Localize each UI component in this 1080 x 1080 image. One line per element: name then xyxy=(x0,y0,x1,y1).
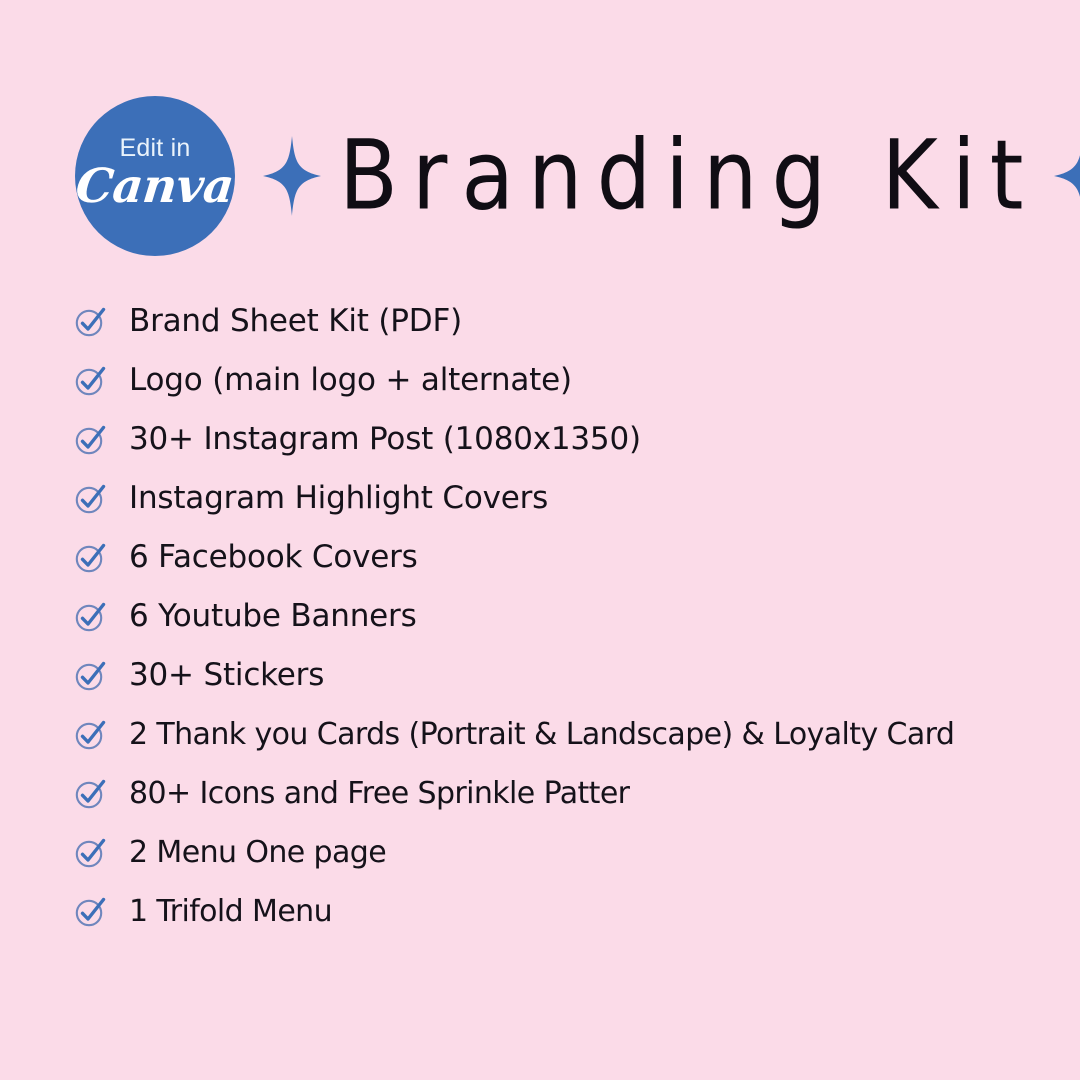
check-circle-icon xyxy=(74,306,106,338)
check-circle-icon xyxy=(74,837,106,869)
check-circle-icon xyxy=(74,424,106,456)
check-circle-icon xyxy=(74,896,106,928)
check-circle-icon xyxy=(74,660,106,692)
list-item-label: Logo (main logo + alternate) xyxy=(129,365,572,396)
list-item: 30+ Stickers xyxy=(74,646,1054,705)
list-item-label: 80+ Icons and Free Sprinkle Patter xyxy=(129,779,629,809)
list-item-label: 6 Youtube Banners xyxy=(129,601,417,632)
canva-wordmark: Canva xyxy=(74,163,236,210)
check-circle-icon xyxy=(74,483,106,515)
edit-in-label: Edit in xyxy=(120,136,191,161)
list-item-label: Instagram Highlight Covers xyxy=(129,483,548,514)
feature-list: Brand Sheet Kit (PDF) Logo (main logo + … xyxy=(74,292,1054,941)
poster-canvas: Edit in Canva Branding Kit Brand Sheet K… xyxy=(0,0,1080,1080)
list-item: 2 Menu One page xyxy=(74,823,1054,882)
list-item-label: Brand Sheet Kit (PDF) xyxy=(129,306,462,337)
list-item-label: 1 Trifold Menu xyxy=(129,897,332,927)
list-item-label: 2 Thank you Cards (Portrait & Landscape)… xyxy=(129,720,954,750)
list-item: Logo (main logo + alternate) xyxy=(74,351,1054,410)
list-item: 6 Facebook Covers xyxy=(74,528,1054,587)
check-circle-icon xyxy=(74,601,106,633)
page-title: Branding Kit xyxy=(339,128,1038,224)
list-item-label: 6 Facebook Covers xyxy=(129,542,418,573)
list-item: 80+ Icons and Free Sprinkle Patter xyxy=(74,764,1054,823)
check-circle-icon xyxy=(74,542,106,574)
check-circle-icon xyxy=(74,778,106,810)
list-item-label: 30+ Instagram Post (1080x1350) xyxy=(129,424,641,455)
list-item: Instagram Highlight Covers xyxy=(74,469,1054,528)
check-circle-icon xyxy=(74,719,106,751)
list-item: 30+ Instagram Post (1080x1350) xyxy=(74,410,1054,469)
canva-circle-badge[interactable]: Edit in Canva xyxy=(75,96,235,256)
list-item-label: 30+ Stickers xyxy=(129,660,324,691)
list-item: 2 Thank you Cards (Portrait & Landscape)… xyxy=(74,705,1054,764)
list-item: 6 Youtube Banners xyxy=(74,587,1054,646)
check-circle-icon xyxy=(74,365,106,397)
poster-header: Edit in Canva Branding Kit xyxy=(0,86,1080,266)
list-item: 1 Trifold Menu xyxy=(74,882,1054,941)
four-point-star-icon xyxy=(263,136,321,216)
four-point-star-icon xyxy=(1054,136,1080,216)
list-item-label: 2 Menu One page xyxy=(129,838,386,868)
list-item: Brand Sheet Kit (PDF) xyxy=(74,292,1054,351)
